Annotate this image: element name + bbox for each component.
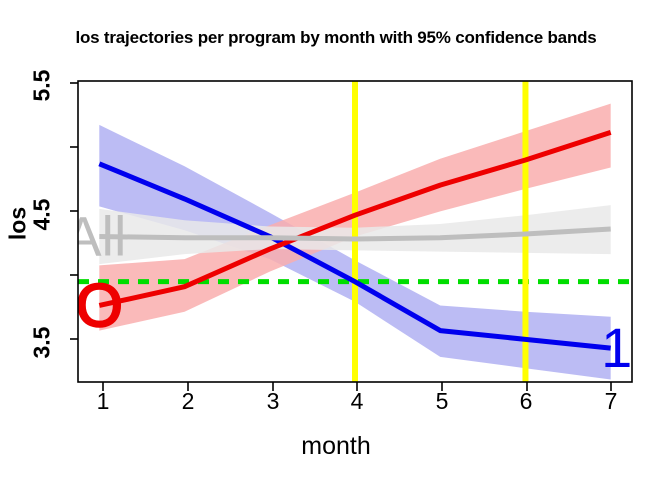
plot-canvas: AllO1 [0, 0, 672, 480]
chart-root: los trajectories per program by month wi… [0, 0, 672, 480]
